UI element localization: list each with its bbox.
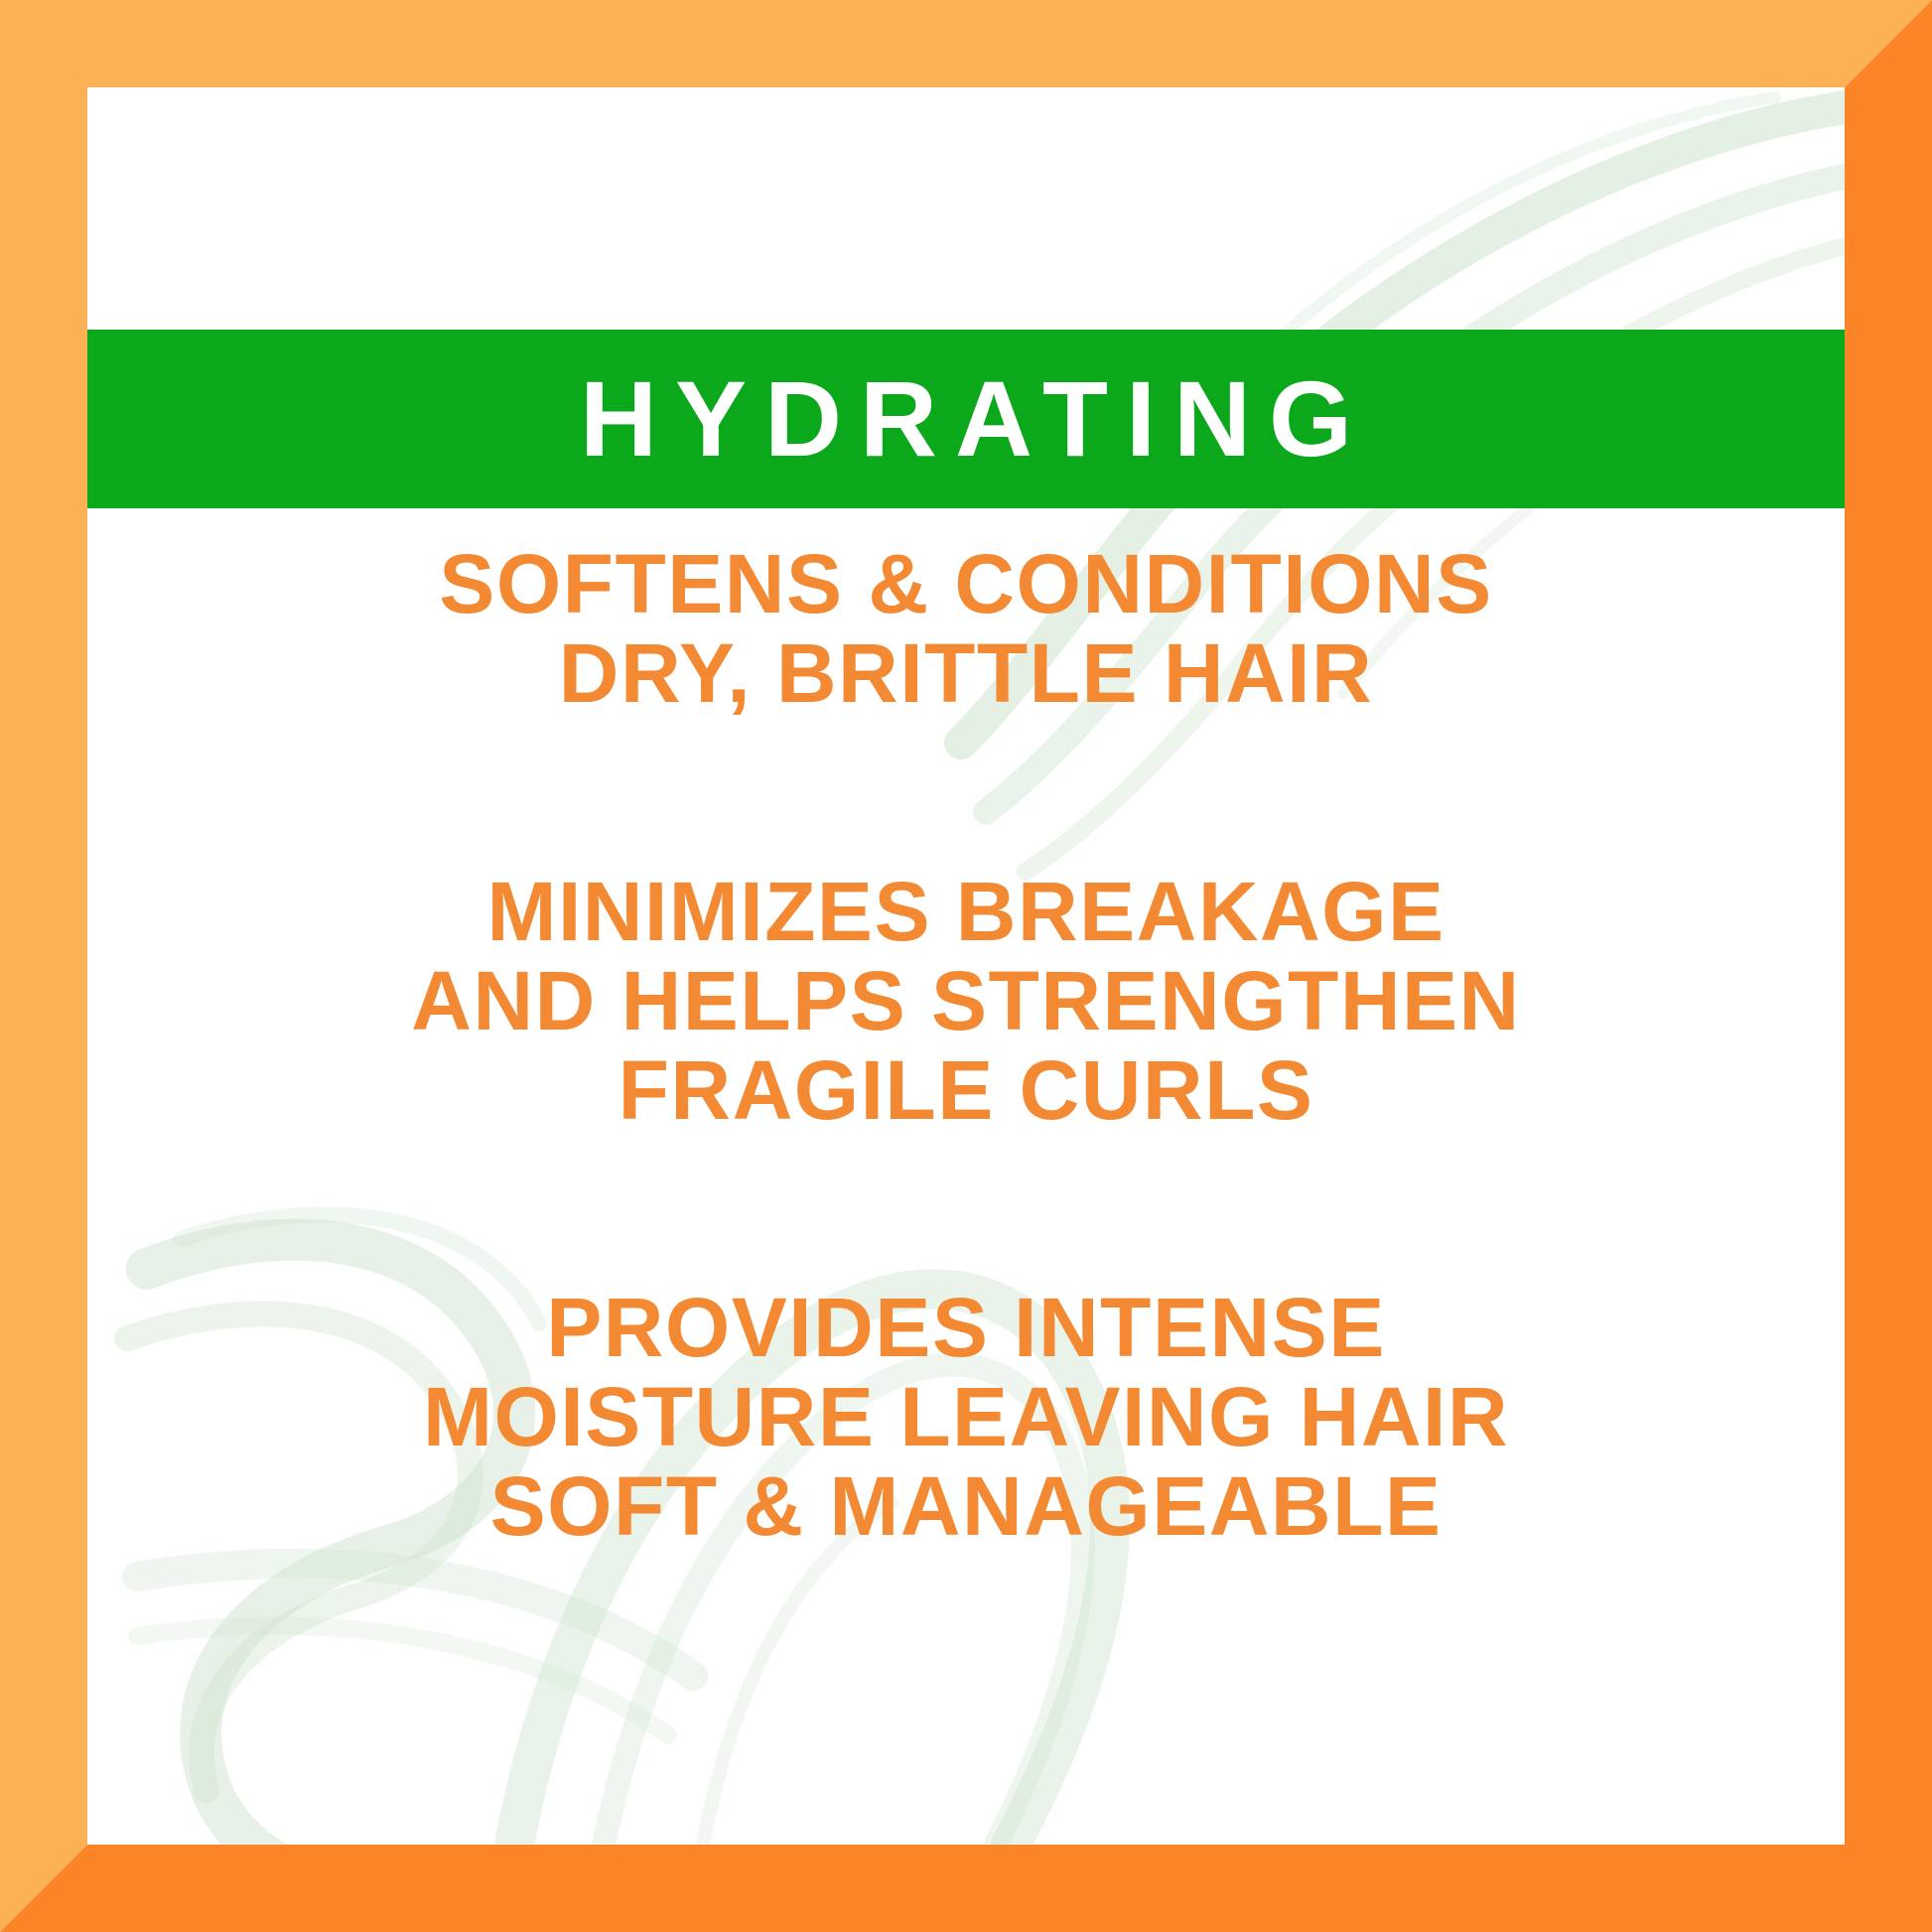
benefit-item: MINIMIZES BREAKAGE AND HELPS STRENGTHEN … [411, 868, 1520, 1136]
benefit-item: SOFTENS & CONDITIONS DRY, BRITTLE HAIR [439, 540, 1492, 719]
white-card: HYDRATING SOFTENS & CONDITIONS DRY, BRIT… [87, 87, 1845, 1845]
benefits-list: SOFTENS & CONDITIONS DRY, BRITTLE HAIR M… [87, 484, 1845, 1845]
product-benefits-poster: HYDRATING SOFTENS & CONDITIONS DRY, BRIT… [0, 0, 1932, 1932]
benefit-item: PROVIDES INTENSE MOISTURE LEAVING HAIR S… [423, 1284, 1509, 1552]
banner-title: HYDRATING [562, 365, 1370, 473]
hydrating-banner: HYDRATING [87, 330, 1845, 508]
